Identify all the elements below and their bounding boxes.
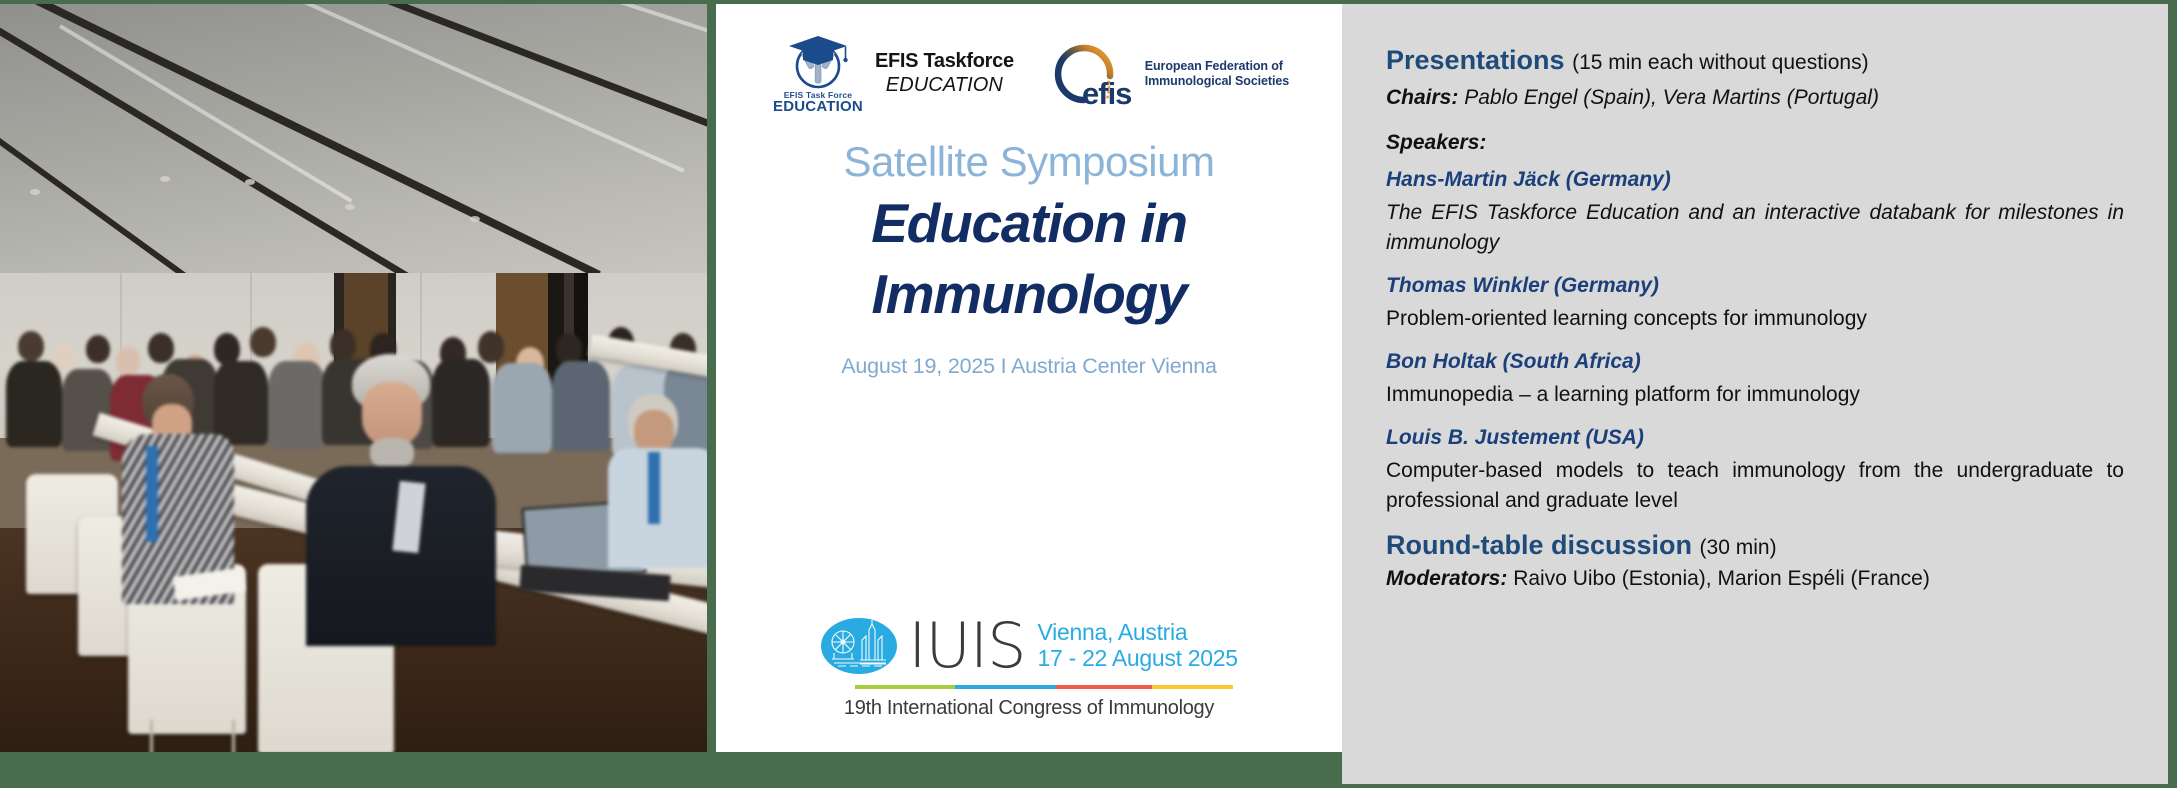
chairs-label: Chairs:	[1386, 86, 1458, 109]
speaker-entry: Thomas Winkler (Germany) Problem-oriente…	[1386, 273, 2124, 334]
roundtable-heading-note: (30 min)	[1700, 536, 1777, 559]
bar-segment-orange	[1056, 685, 1152, 689]
moderators-label: Moderators:	[1386, 567, 1507, 590]
title-date-venue: August 19, 2025 I Austria Center Vienna	[716, 354, 1342, 379]
taskforce-wordmark: EFIS Taskforce EDUCATION	[875, 50, 1014, 98]
federation-text: European Federation of Immunological Soc…	[1145, 59, 1289, 89]
speaker-entry: Hans-Martin Jäck (Germany) The EFIS Task…	[1386, 167, 2124, 258]
iuis-subtitle: 19th International Congress of Immunolog…	[844, 697, 1214, 720]
roundtable-heading-text: Round-table discussion	[1386, 530, 1692, 560]
iuis-logo: IUIS Vienna, Austria 17 - 22 August 2025…	[716, 616, 1342, 720]
svg-text:efis: efis	[1082, 76, 1131, 110]
efis-arc-icon: efis	[1048, 38, 1140, 110]
program-panel: Presentations (15 min each without quest…	[1342, 4, 2168, 784]
iuis-place: Vienna, Austria	[1038, 620, 1238, 646]
speaker-entry: Bon Holtak (South Africa) Immunopedia – …	[1386, 349, 2124, 410]
bar-segment-yellow	[1152, 685, 1233, 689]
presentations-heading-text: Presentations	[1386, 45, 1565, 75]
presentations-heading: Presentations (15 min each without quest…	[1386, 46, 2124, 76]
chairs-value: Pablo Engel (Spain), Vera Martins (Portu…	[1464, 86, 1879, 109]
poster-root: EFIS Task Force EDUCATION EFIS Taskforce…	[0, 0, 2177, 788]
title-kicker: Satellite Symposium	[716, 138, 1342, 186]
conference-photo	[0, 4, 707, 752]
bar-segment-blue	[955, 685, 1055, 689]
photo-person-foreground	[120, 374, 240, 624]
speaker-name: Bon Holtak (South Africa)	[1386, 349, 2124, 374]
speakers-label: Speakers:	[1386, 131, 2124, 155]
iuis-logo-row: IUIS Vienna, Austria 17 - 22 August 2025	[820, 616, 1238, 676]
iuis-wordmark: IUIS	[908, 621, 1025, 671]
bar-segment-green	[855, 685, 955, 689]
efis-taskforce-logo: EFIS Task Force EDUCATION	[775, 33, 861, 116]
taskforce-wordmark-line2: EDUCATION	[886, 73, 1003, 98]
title-main-line2: Immunology	[716, 261, 1342, 328]
iuis-color-bar	[855, 685, 1233, 689]
speaker-talk: Immunopedia – a learning platform for im…	[1386, 380, 2124, 410]
iuis-dates: 17 - 22 August 2025	[1038, 646, 1238, 672]
speaker-talk: Problem-oriented learning concepts for i…	[1386, 304, 2124, 334]
speaker-name: Louis B. Justement (USA)	[1386, 425, 2124, 450]
moderators-value: Raivo Uibo (Estonia), Marion Espéli (Fra…	[1513, 567, 1930, 590]
title-main-line1: Education in	[716, 190, 1342, 257]
speaker-entry: Louis B. Justement (USA) Computer-based …	[1386, 425, 2124, 516]
speaker-name: Thomas Winkler (Germany)	[1386, 273, 2124, 298]
poster-center-panel: EFIS Task Force EDUCATION EFIS Taskforce…	[716, 4, 1342, 752]
logo-row: EFIS Task Force EDUCATION EFIS Taskforce…	[716, 22, 1342, 126]
efis-federation-logo: efis European Federation of Immunologica…	[1048, 38, 1289, 110]
photo-person-right	[608, 394, 707, 574]
roundtable-heading: Round-table discussion (30 min)	[1386, 531, 2124, 561]
vienna-skyline-icon	[820, 616, 898, 676]
title-block: Satellite Symposium Education in Immunol…	[716, 138, 1342, 379]
moderators-line: Moderators: Raivo Uibo (Estonia), Marion…	[1386, 566, 2124, 592]
taskforce-wordmark-line1: EFIS Taskforce	[875, 50, 1014, 73]
speaker-talk: Computer-based models to teach immunolog…	[1386, 456, 2124, 516]
speaker-talk: The EFIS Taskforce Education and an inte…	[1386, 198, 2124, 258]
photo-ceiling	[0, 4, 707, 288]
taskforce-big-line: EDUCATION	[773, 99, 863, 116]
federation-line1: European Federation of	[1145, 59, 1289, 74]
presentations-heading-note: (15 min each without questions)	[1572, 51, 1869, 74]
federation-line2: Immunological Societies	[1145, 74, 1289, 89]
iuis-place-block: Vienna, Austria 17 - 22 August 2025	[1038, 620, 1238, 672]
speaker-name: Hans-Martin Jäck (Germany)	[1386, 167, 2124, 192]
graduation-cap-antibody-icon	[781, 33, 855, 91]
photo-speaker	[300, 354, 530, 752]
chairs-line: Chairs: Pablo Engel (Spain), Vera Martin…	[1386, 85, 2124, 111]
